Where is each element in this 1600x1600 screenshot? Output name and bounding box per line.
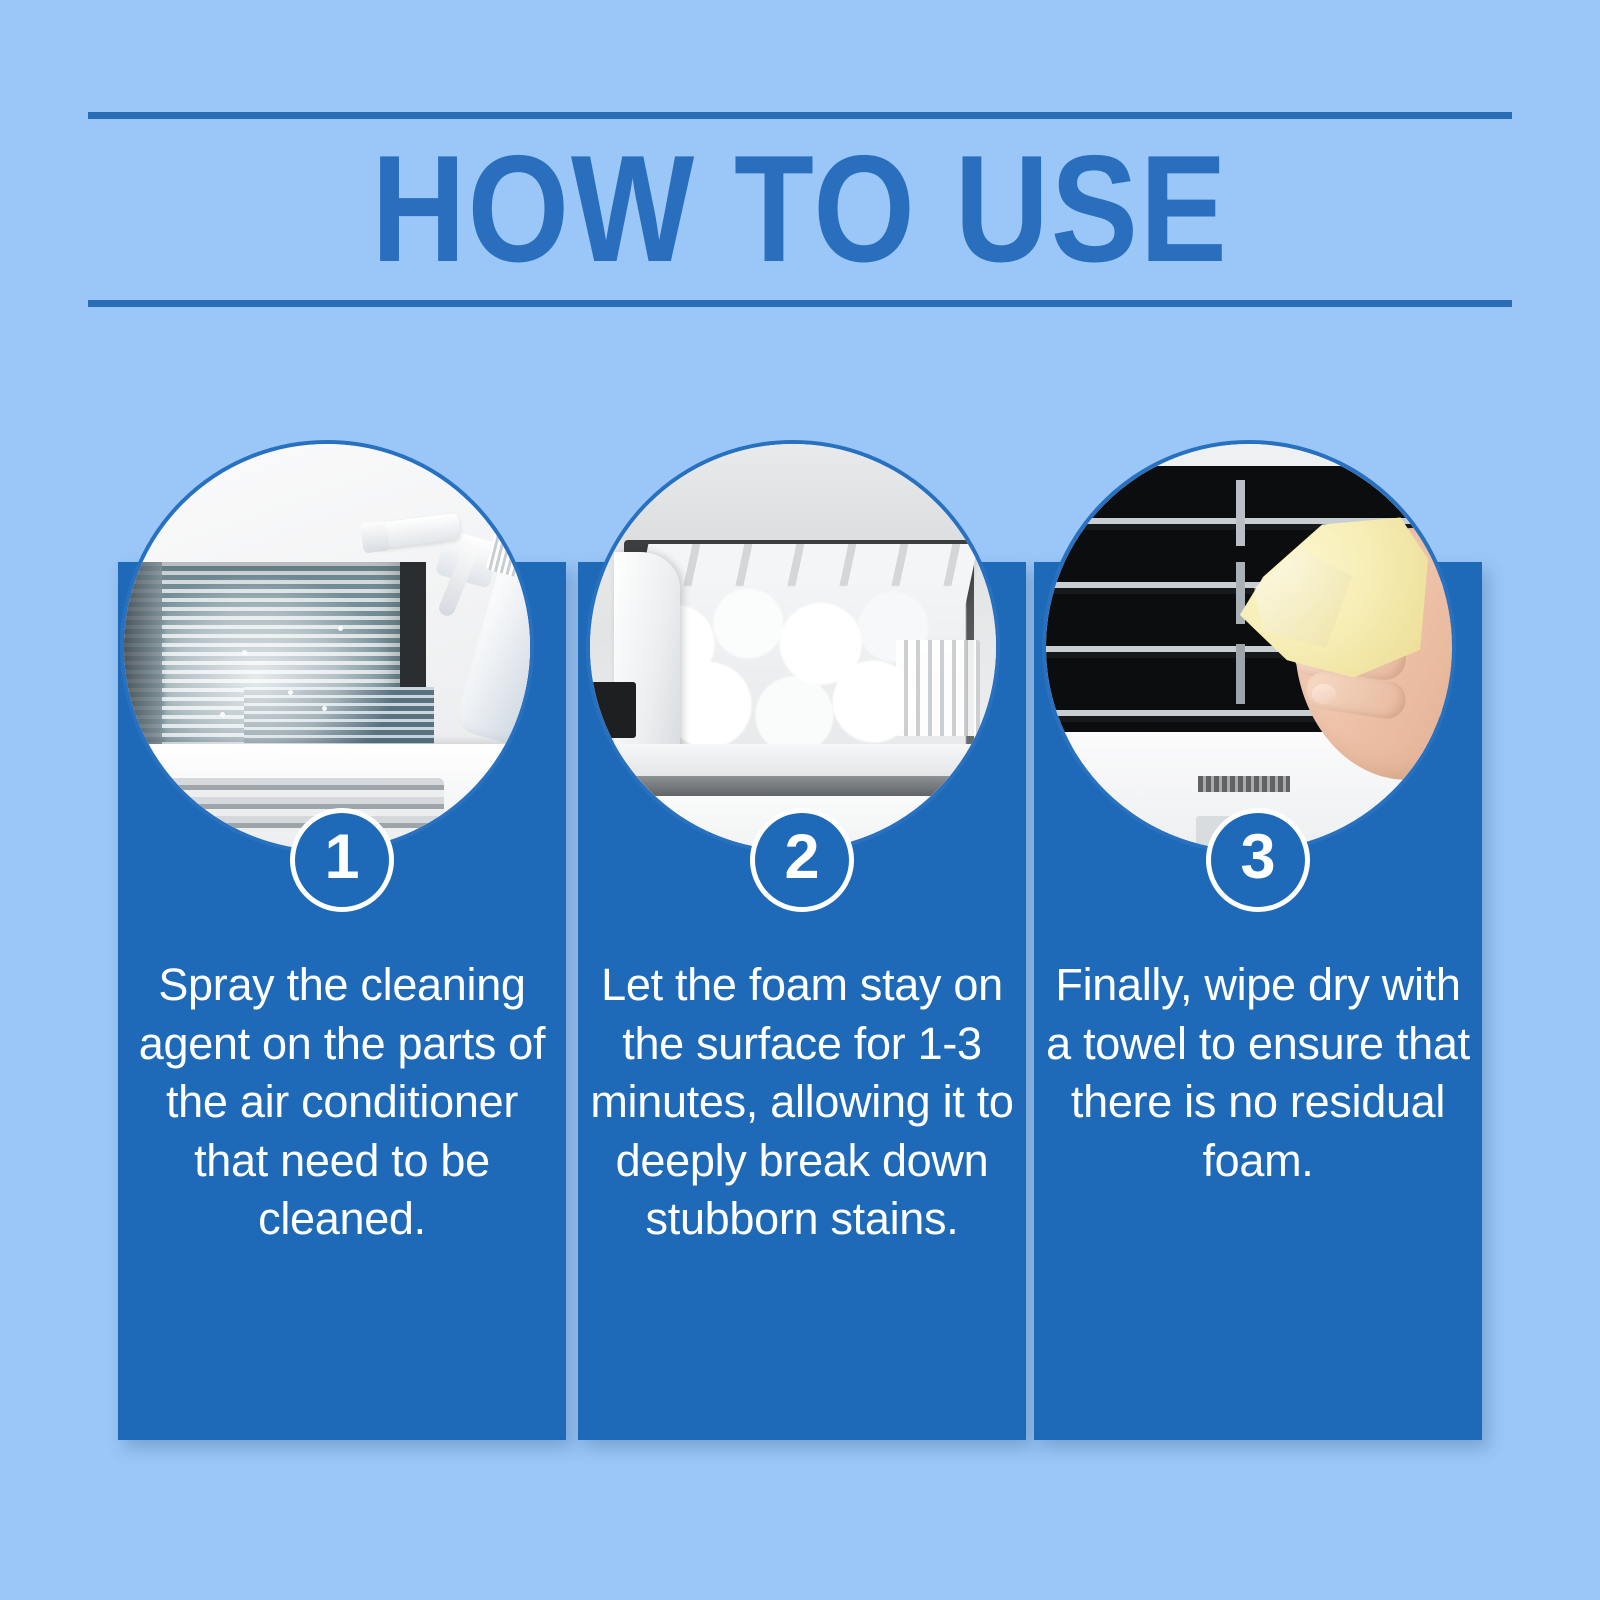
steps-container: 1 Spray the cleaning agent on the parts …: [0, 0, 1600, 1600]
ac-top-shade: [590, 444, 996, 540]
step-number-1: 1: [324, 826, 359, 889]
mist-droplet-icon: [220, 712, 225, 717]
step-card-2: 2 Let the foam stay on the surface for 1…: [578, 440, 1026, 1440]
step-photo-2: [586, 440, 1000, 854]
ac-grille-icon: [896, 640, 980, 736]
mist-droplet-icon: [288, 690, 293, 695]
wipe-scene-illustration: [1046, 444, 1452, 850]
foam-scene-illustration: [590, 444, 996, 850]
step-photo-3: [1042, 440, 1456, 854]
mist-droplet-icon: [242, 650, 247, 655]
ac-seam: [590, 776, 996, 798]
step-card-1: 1 Spray the cleaning agent on the parts …: [118, 440, 566, 1440]
louver-divider-icon: [1236, 644, 1245, 704]
step-number-3: 3: [1240, 826, 1275, 889]
mist-droplet-icon: [338, 626, 343, 631]
ac-louver-icon: [154, 778, 444, 832]
step-card-3: 3 Finally, wipe dry with a towel to ensu…: [1034, 440, 1482, 1440]
ac-dark-vent: [590, 682, 636, 738]
ac-coil-shadow: [124, 562, 162, 767]
step-number-badge-2: 2: [750, 808, 854, 912]
spray-mist-icon: [164, 574, 394, 764]
step-caption-2: Let the foam stay on the surface for 1-3…: [590, 956, 1014, 1249]
step-number-badge-1: 1: [290, 808, 394, 912]
step-number-2: 2: [784, 826, 819, 889]
step-caption-3: Finally, wipe dry with a towel to ensure…: [1046, 956, 1470, 1190]
spray-nozzle-tip-icon: [360, 521, 389, 554]
step-photo-1: [120, 440, 534, 854]
ac-label-text-icon: [1198, 776, 1290, 792]
spray-scene-illustration: [124, 444, 530, 850]
mist-droplet-icon: [322, 706, 327, 711]
fingernail-icon: [1312, 684, 1336, 704]
louver-divider-icon: [1236, 480, 1245, 546]
step-caption-1: Spray the cleaning agent on the parts of…: [130, 956, 554, 1249]
step-number-badge-3: 3: [1206, 808, 1310, 912]
